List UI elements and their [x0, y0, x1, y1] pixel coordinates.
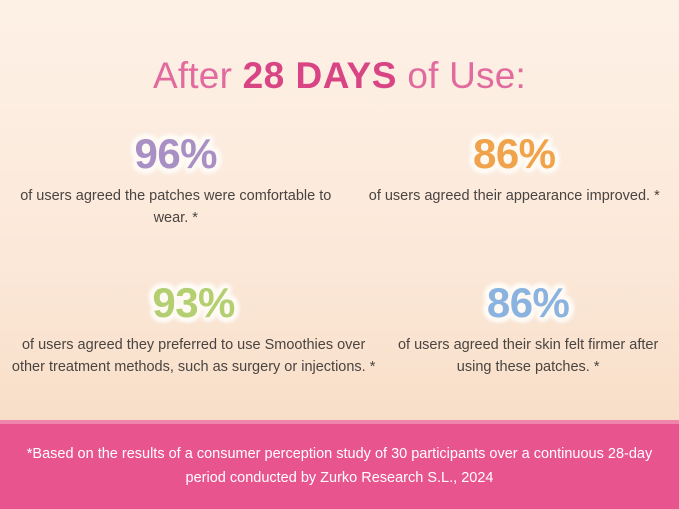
footer-disclaimer-band: *Based on the results of a consumer perc…	[0, 424, 679, 509]
infographic-poster: After 28 DAYS of Use: 96% of users agree…	[0, 0, 679, 509]
statistics-grid: 96% of users agreed the patches were com…	[0, 116, 679, 420]
stat-description: of users agreed the patches were comfort…	[12, 185, 340, 229]
stat-percent: 86%	[487, 281, 570, 325]
page-title: After 28 DAYS of Use:	[0, 21, 679, 94]
footer-disclaimer-text: *Based on the results of a consumer perc…	[0, 443, 679, 490]
stat-description: of users agreed their skin felt firmer a…	[385, 334, 671, 378]
stat-percent: 96%	[134, 132, 217, 176]
title-prefix: After	[153, 55, 243, 96]
title-suffix: of Use:	[397, 55, 526, 96]
statistics-row-top: 96% of users agreed the patches were com…	[8, 116, 671, 271]
stat-card-skin-felt-firmer: 86% of users agreed their skin felt firm…	[379, 281, 671, 378]
title-emphasis: 28 DAYS	[243, 55, 397, 96]
stat-percent: 86%	[473, 132, 556, 176]
stat-description: of users agreed they preferred to use Sm…	[8, 334, 379, 378]
stat-card-comfortable-to-wear: 96% of users agreed the patches were com…	[8, 132, 340, 229]
stat-percent: 93%	[152, 281, 235, 325]
stat-description: of users agreed their appearance improve…	[369, 185, 660, 207]
stat-card-preferred-smoothies: 93% of users agreed they preferred to us…	[8, 281, 379, 378]
statistics-row-bottom: 93% of users agreed they preferred to us…	[8, 271, 671, 420]
stat-card-appearance-improved: 86% of users agreed their appearance imp…	[340, 132, 672, 207]
